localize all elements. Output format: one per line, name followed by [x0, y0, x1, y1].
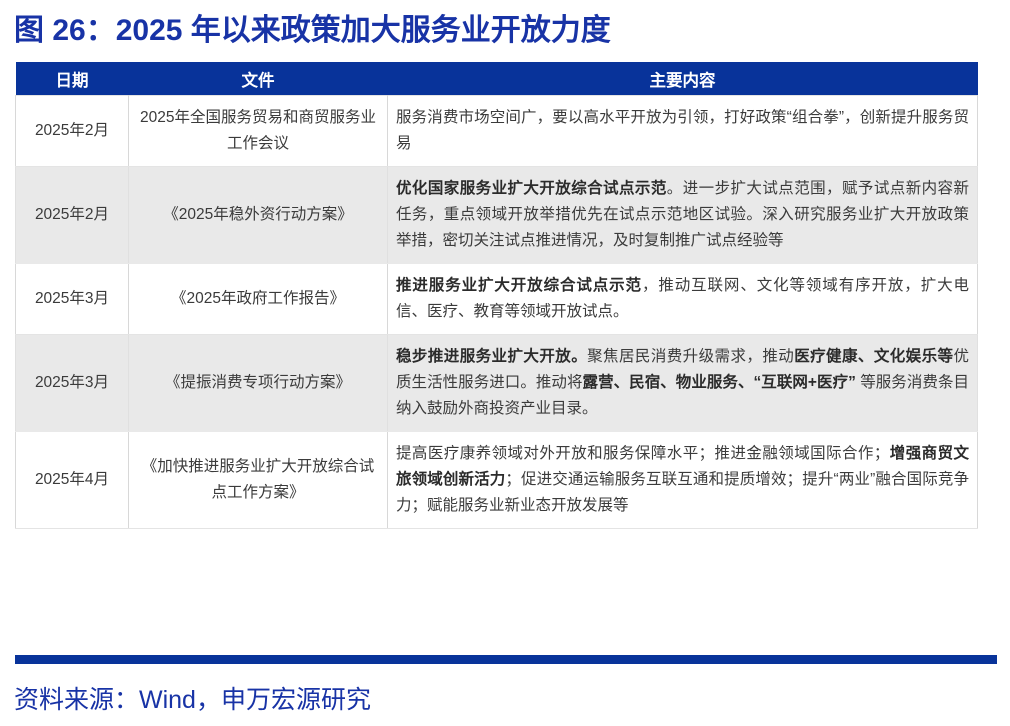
- table-row: 2025年2月《2025年稳外资行动方案》优化国家服务业扩大开放综合试点示范。进…: [16, 167, 978, 264]
- page-title: 图 26：2025 年以来政策加大服务业开放力度: [14, 12, 611, 50]
- cell-document: 《2025年政府工作报告》: [129, 264, 388, 335]
- cell-date: 2025年2月: [16, 96, 129, 167]
- cell-document: 《提振消费专项行动方案》: [129, 335, 388, 432]
- table-row: 2025年4月《加快推进服务业扩大开放综合试点工作方案》提高医疗康养领域对外开放…: [16, 432, 978, 529]
- column-header-date: 日期: [16, 62, 129, 96]
- cell-document: 2025年全国服务贸易和商贸服务业工作会议: [129, 96, 388, 167]
- source-note: 资料来源：Wind，申万宏源研究: [14, 680, 371, 716]
- cell-document: 《加快推进服务业扩大开放综合试点工作方案》: [129, 432, 388, 529]
- table-row: 2025年3月《2025年政府工作报告》推进服务业扩大开放综合试点示范，推动互联…: [16, 264, 978, 335]
- cell-main-content: 提高医疗康养领域对外开放和服务保障水平；推进金融领域国际合作；增强商贸文旅领域创…: [388, 432, 978, 529]
- content-emphasis: 医疗健康、文化娱乐等: [794, 348, 953, 365]
- cell-date: 2025年4月: [16, 432, 129, 529]
- table-header: 日期 文件 主要内容: [16, 62, 978, 96]
- content-text: 提高医疗康养领域对外开放和服务保障水平；推进金融领域国际合作；: [396, 445, 889, 462]
- column-header-main: 主要内容: [388, 62, 978, 96]
- column-header-doc: 文件: [129, 62, 388, 96]
- table-body: 2025年2月2025年全国服务贸易和商贸服务业工作会议服务消费市场空间广，要以…: [16, 96, 978, 529]
- cell-date: 2025年3月: [16, 335, 129, 432]
- cell-date: 2025年3月: [16, 264, 129, 335]
- table-header-row: 日期 文件 主要内容: [16, 62, 978, 96]
- content-emphasis: 推进服务业扩大开放综合试点示范: [396, 277, 642, 294]
- content-emphasis: 露营、民宿、物业服务、“互联网+医疗”: [583, 374, 856, 391]
- cell-main-content: 推进服务业扩大开放综合试点示范，推动互联网、文化等领域有序开放，扩大电信、医疗、…: [388, 264, 978, 335]
- cell-main-content: 稳步推进服务业扩大开放。聚焦居民消费升级需求，推动医疗健康、文化娱乐等优质生活性…: [388, 335, 978, 432]
- cell-main-content: 服务消费市场空间广，要以高水平开放为引领，打好政策“组合拳”，创新提升服务贸易: [388, 96, 978, 167]
- content-emphasis: 优化国家服务业扩大开放综合试点示范: [396, 180, 667, 197]
- content-text: 聚焦居民消费升级需求，推动: [587, 348, 794, 365]
- content-emphasis: 稳步推进服务业扩大开放。: [396, 348, 587, 365]
- cell-main-content: 优化国家服务业扩大开放综合试点示范。进一步扩大试点范围，赋予试点新内容新任务，重…: [388, 167, 978, 264]
- table-row: 2025年2月2025年全国服务贸易和商贸服务业工作会议服务消费市场空间广，要以…: [16, 96, 978, 167]
- policy-table: 日期 文件 主要内容 2025年2月2025年全国服务贸易和商贸服务业工作会议服…: [15, 62, 978, 529]
- bottom-rule-divider: [15, 655, 997, 664]
- cell-date: 2025年2月: [16, 167, 129, 264]
- table-row: 2025年3月《提振消费专项行动方案》稳步推进服务业扩大开放。聚焦居民消费升级需…: [16, 335, 978, 432]
- content-text: 服务消费市场空间广，要以高水平开放为引领，打好政策“组合拳”，创新提升服务贸易: [396, 109, 969, 152]
- cell-document: 《2025年稳外资行动方案》: [129, 167, 388, 264]
